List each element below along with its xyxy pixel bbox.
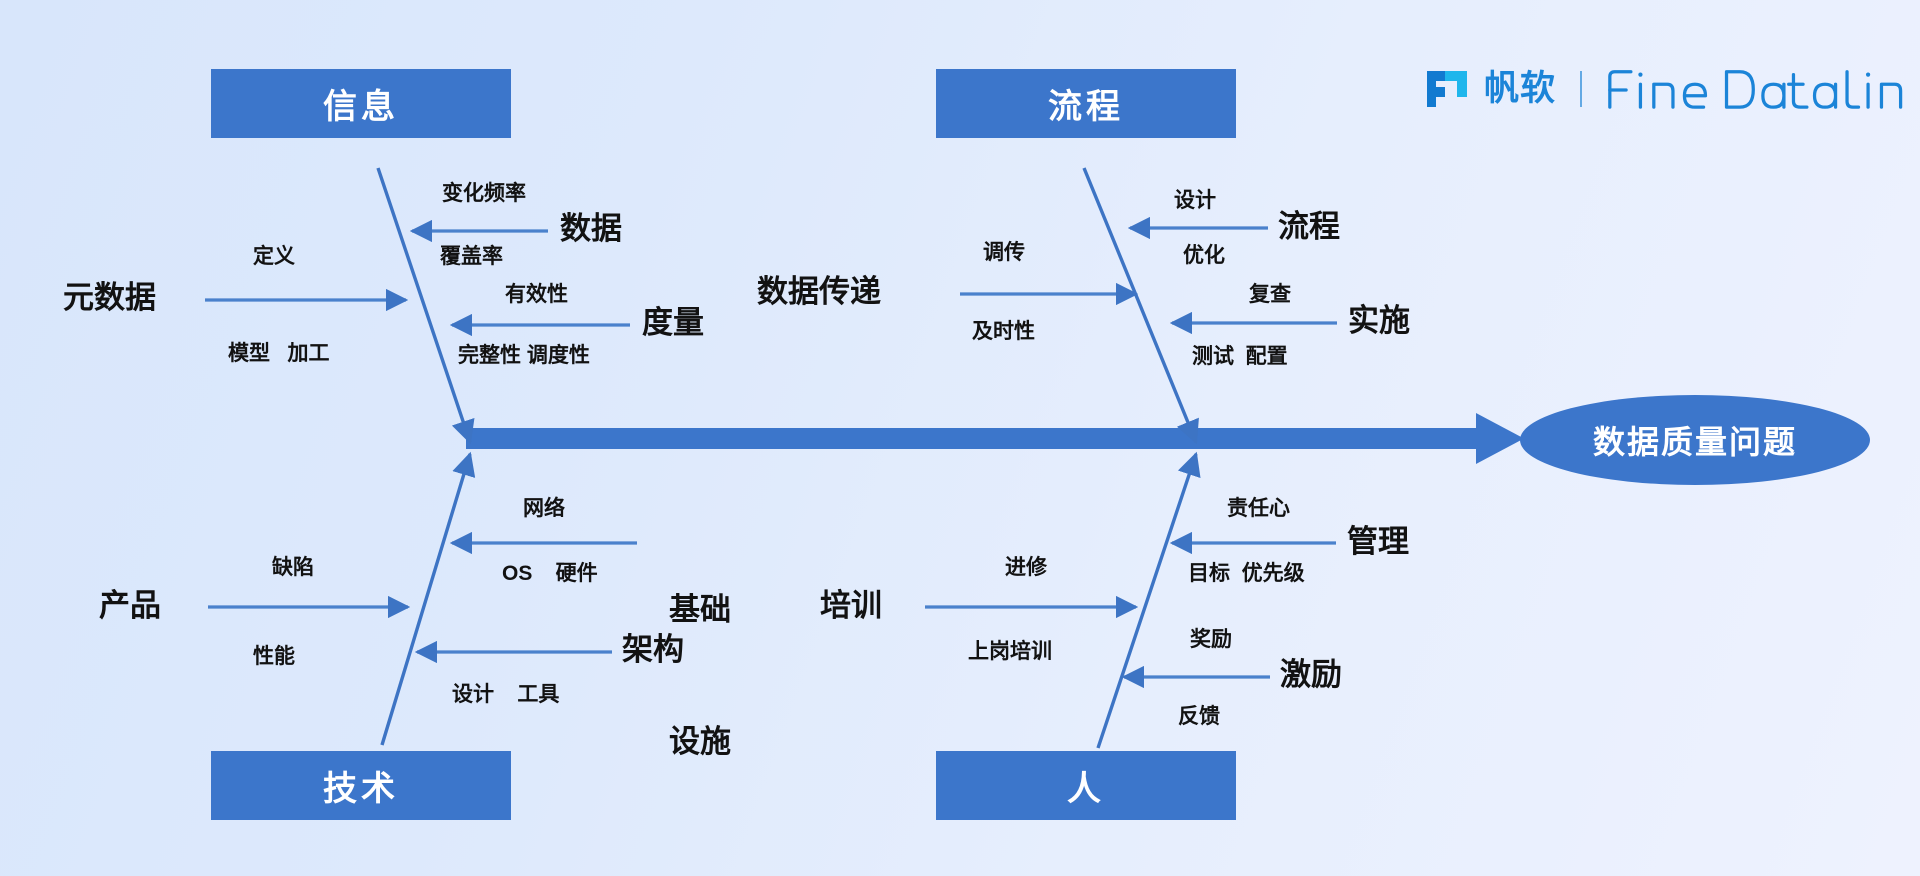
category-label-information: 信息	[323, 79, 399, 128]
sublabel-impl-above: 复查	[1249, 283, 1291, 307]
sublabel-metadata-below: 模型 加工	[228, 342, 330, 366]
sublabel-product-below: 性能	[253, 645, 295, 669]
category-label-people: 人	[1067, 761, 1105, 810]
sublabel-measure-below: 完整性 调度性	[458, 344, 590, 368]
cause-label-process: 流程	[1278, 210, 1340, 245]
sublabel-arch-below: 设计 工具	[452, 683, 559, 707]
sublabel-training-above: 进修	[1005, 556, 1047, 580]
sublabel-product-above: 缺陷	[272, 556, 314, 580]
cause-label-architecture: 架构	[622, 633, 684, 668]
category-box-information[interactable]: 信息	[211, 69, 511, 138]
effect-node-data-quality-problem[interactable]: 数据质量问题	[1520, 395, 1870, 485]
brand-cn-name: 帆软	[1484, 68, 1556, 110]
sublabel-data-above: 变化频率	[442, 182, 526, 206]
fishbone-diagram-canvas: 信息 流程 技术 人 数据质量问题 元数据 定义 模型 加工 数据 变化频率 覆…	[0, 0, 1920, 876]
sublabel-process-below: 优化	[1183, 244, 1225, 268]
rib-information	[378, 168, 470, 442]
sublabel-data-below: 覆盖率	[440, 245, 503, 269]
sublabel-infra-below: OS 硬件	[502, 562, 598, 586]
cause-label-infrastructure: 基础 设施	[645, 500, 755, 852]
sublabel-process-above: 设计	[1174, 189, 1216, 213]
cause-label-incentive: 激励	[1280, 658, 1342, 693]
cause-label-management: 管理	[1347, 525, 1409, 560]
cause-label-metadata: 元数据	[63, 281, 156, 316]
effect-label: 数据质量问题	[1593, 417, 1797, 463]
cause-label-data: 数据	[560, 212, 622, 247]
fanruan-mark-icon	[1424, 68, 1470, 110]
sublabel-mgmt-below: 目标 优先级	[1188, 562, 1305, 586]
cause-label-measure: 度量	[642, 306, 704, 341]
sublabel-metadata-above: 定义	[253, 245, 295, 269]
sublabel-impl-below: 测试 配置	[1192, 345, 1288, 369]
sublabel-transfer-below: 及时性	[972, 320, 1035, 344]
category-box-people[interactable]: 人	[936, 751, 1236, 820]
sublabel-mgmt-above: 责任心	[1227, 497, 1290, 521]
cause-label-infrastructure-line2: 设施	[645, 720, 755, 764]
category-box-technology[interactable]: 技术	[211, 751, 511, 820]
sublabel-infra-above: 网络	[523, 497, 565, 521]
sublabel-training-below: 上岗培训	[968, 640, 1052, 664]
cause-label-training: 培训	[820, 589, 882, 624]
finedatalink-wordmark	[1606, 67, 1912, 111]
cause-label-implementation: 实施	[1348, 304, 1410, 339]
category-label-process: 流程	[1048, 79, 1124, 128]
cause-label-data-transfer: 数据传递	[757, 275, 881, 310]
rib-people	[1098, 454, 1196, 748]
brand-logo[interactable]: 帆软	[1424, 62, 1912, 116]
category-label-technology: 技术	[323, 761, 399, 810]
logo-divider	[1580, 71, 1582, 107]
cause-label-product: 产品	[99, 589, 161, 624]
sublabel-incentive-below: 反馈	[1178, 705, 1220, 729]
sublabel-transfer-above: 调传	[983, 241, 1025, 265]
sublabel-incentive-above: 奖励	[1190, 628, 1232, 652]
cause-label-infrastructure-line1: 基础	[645, 588, 755, 632]
category-box-process[interactable]: 流程	[936, 69, 1236, 138]
sublabel-measure-above: 有效性	[505, 283, 568, 307]
spine-arrow	[466, 413, 1524, 464]
